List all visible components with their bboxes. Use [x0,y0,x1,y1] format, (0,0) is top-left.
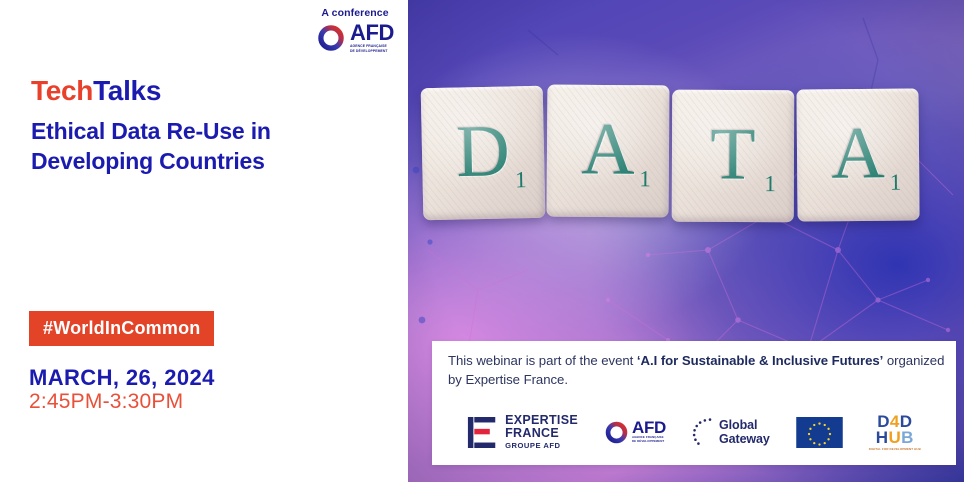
scrabble-tile: D 1 [421,86,546,221]
d4d-u: U [888,428,901,447]
d4d-b: B [901,428,914,447]
brand-tech-word: Tech [31,75,93,106]
afd-logo-footer: AFD AGENCE FRANÇAISE DE DÉVELOPPEMENT [604,420,666,445]
photo-panel: D 1 A 1 T 1 A 1 This webinar is part of … [408,0,964,482]
afd-wordmark: AFD AGENCE FRANÇAISE DE DÉVELOPPEMENT [350,23,394,54]
afd-letters: AFD [350,23,394,43]
tile-value: 1 [515,168,527,191]
d4d-line2: HUB [869,429,921,446]
afd-footer-wordmark: AFD AGENCE FRANÇAISE DE DÉVELOPPEMENT [632,420,666,444]
gg-line1: Global [719,418,770,432]
tile-value: 1 [639,167,651,190]
scrabble-tiles-group: D 1 A 1 T 1 A 1 [422,85,919,217]
d4d-subtitle: DIGITAL FOR DEVELOPMENT HUB [869,448,921,451]
european-union-flag-icon [796,417,843,448]
left-info-panel: A conference AFD AGENCE FRA [0,0,408,482]
webinar-promo-poster: A conference AFD AGENCE FRA [0,0,964,482]
description-prefix: This webinar is part of the event [448,353,637,368]
afd-logo: AFD AGENCE FRANÇAISE DE DÉVELOPPEMENT [305,23,405,54]
afd-ring-icon [604,420,629,445]
ef-line1: EXPERTISE [505,414,578,427]
title-block: TechTalks Ethical Data Re-Use in Develop… [31,76,371,176]
talk-title: Ethical Data Re-Use in Developing Countr… [31,117,371,176]
expertise-france-mark-icon [467,416,498,449]
event-info-card: This webinar is part of the event ‘A.I f… [432,341,956,465]
d4d-hub-logo: D4D HUB DIGITAL FOR DEVELOPMENT HUB [869,413,921,451]
afd-letters: AFD [632,420,666,436]
scrabble-tile: A 1 [547,85,670,218]
ef-line2: FRANCE [505,427,578,440]
tile-value: 1 [890,171,902,194]
brand-techtalks: TechTalks [31,76,371,105]
afd-subtitle-line2: DE DÉVELOPPEMENT [632,440,666,444]
scrabble-tile: A 1 [796,88,919,221]
partner-logo-row: EXPERTISE FRANCE GROUPE AFD [432,413,956,451]
conference-organizer-block: A conference AFD AGENCE FRA [305,8,405,53]
tile-value: 1 [764,172,776,195]
global-gateway-wordmark: Global Gateway [719,418,770,446]
hashtag-badge: #WorldInCommon [29,311,214,346]
afd-subtitle-line2: DE DÉVELOPPEMENT [350,49,388,53]
brand-talks-word: Talks [93,75,161,106]
webinar-description: This webinar is part of the event ‘A.I f… [448,351,946,389]
tile-letter: A [547,112,670,187]
scrabble-tile: T 1 [672,90,794,222]
d4d-h: H [876,428,889,447]
expertise-france-logo: EXPERTISE FRANCE GROUPE AFD [467,414,578,450]
gg-line2: Gateway [719,432,770,446]
expertise-france-wordmark: EXPERTISE FRANCE GROUPE AFD [505,414,578,450]
ef-line3: GROUPE AFD [505,442,578,450]
event-time: 2:45PM-3:30PM [29,390,215,414]
conference-label: A conference [305,8,405,19]
event-name: ‘A.I for Sustainable & Inclusive Futures… [637,353,883,368]
global-gateway-logo: Global Gateway [692,417,770,447]
afd-ring-icon [316,23,346,53]
date-time-block: MARCH, 26, 2024 2:45PM-3:30PM [29,366,215,414]
afd-subtitle-line1: AGENCE FRANÇAISE [350,44,387,48]
event-date: MARCH, 26, 2024 [29,366,215,390]
global-gateway-stars-icon [692,417,716,447]
